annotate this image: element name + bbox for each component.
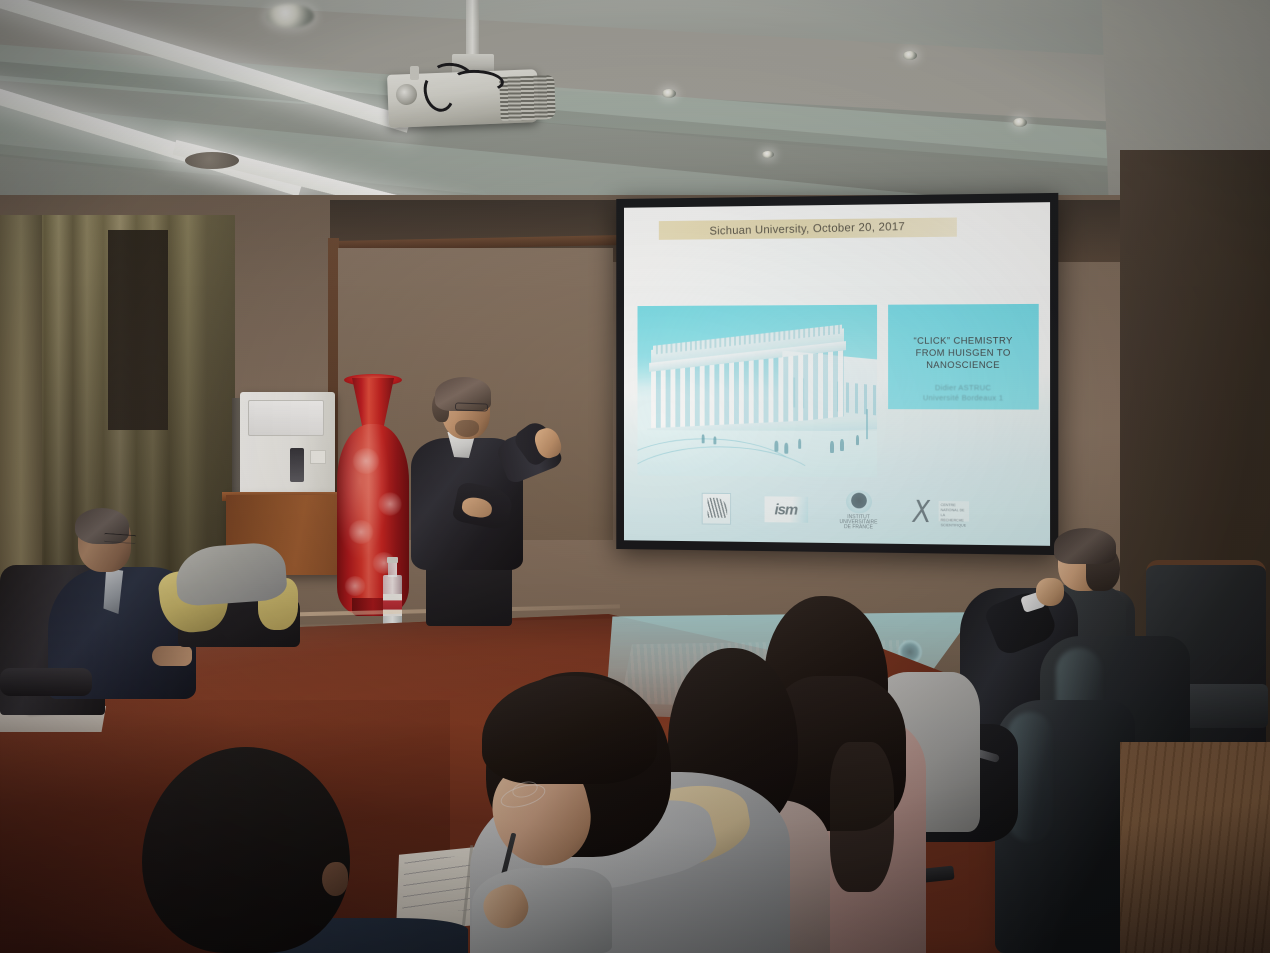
logo-iuf-icon: INSTITUT UNIVERSITAIRE DE FRANCE: [841, 490, 875, 530]
curtain-left-edge: [0, 215, 42, 580]
ceiling-downlight-1: [266, 4, 314, 28]
ceiling: [0, 0, 1270, 215]
student-pink-jacket-hair-strand: [830, 742, 894, 892]
air-conditioner-label: [310, 450, 326, 464]
projector-knob: [410, 66, 419, 80]
pedestrian: [856, 435, 859, 445]
ceiling-downlight-4: [903, 51, 917, 60]
air-conditioner-display: [290, 448, 304, 482]
pedestrian: [784, 443, 788, 454]
presentation-slide: Sichuan University, October 20, 2017: [624, 202, 1050, 546]
vase-floral-pattern: [378, 492, 402, 516]
vase-floral-pattern: [348, 520, 374, 544]
logo-universite-bordeaux-icon: [701, 493, 730, 525]
speaker-beard: [455, 420, 479, 437]
logo-ism-icon: ism: [764, 496, 808, 522]
lecture-room-photo: Sichuan University, October 20, 2017: [0, 0, 1270, 953]
logo-iuf-ring: [845, 490, 871, 513]
foreground-person-ear: [322, 862, 348, 896]
street-lamp: [866, 409, 868, 439]
attendee-left-hands: [152, 646, 192, 666]
slide-banner-text: Sichuan University, October 20, 2017: [709, 220, 905, 237]
ceiling-downlight-2: [185, 152, 239, 169]
logo-cnrs-mark: [908, 500, 937, 522]
projection-screen: Sichuan University, October 20, 2017: [616, 193, 1058, 555]
slide-affiliation: Université Bordeaux 1: [923, 393, 1003, 403]
floor-grain: [1120, 742, 1270, 953]
pedestrian: [840, 439, 844, 451]
air-conditioner-grille: [248, 400, 324, 436]
ceiling-downlight-5: [1013, 118, 1027, 127]
chair-armrest: [0, 668, 92, 696]
pedestrian: [830, 441, 834, 453]
logo-iuf-caption: INSTITUT UNIVERSITAIRE DE FRANCE: [840, 515, 878, 530]
attendee-right-hair: [1054, 528, 1116, 564]
slide-heading-line-1: “CLICK” CHEMISTRY: [914, 334, 1013, 346]
slide-photo-bordeaux-theatre: [638, 305, 878, 478]
pedestrian: [798, 439, 801, 449]
bottle-cap: [387, 557, 398, 563]
speaker-glasses-icon: [455, 402, 488, 411]
slide-heading-line-3: NANOSCIENCE: [914, 359, 1013, 371]
projector-vent-icon: [499, 75, 556, 121]
logo-ism-text: ism: [774, 501, 797, 518]
vase-floral-pattern: [352, 448, 380, 474]
slide-heading-line-2: FROM HUISGEN TO: [914, 347, 1013, 359]
slide-title-panel: “CLICK” CHEMISTRY FROM HUISGEN TO NANOSC…: [888, 304, 1039, 410]
slide-author-block: Didier ASTRUC Université Bordeaux 1: [923, 383, 1003, 402]
pedestrian: [702, 434, 705, 443]
slide-banner: Sichuan University, October 20, 2017: [659, 218, 957, 240]
slide-heading: “CLICK” CHEMISTRY FROM HUISGEN TO NANOSC…: [914, 334, 1013, 371]
projector-ceiling-mount: [466, 0, 479, 60]
ceiling-downlight-3: [662, 89, 676, 98]
pedestrian: [713, 436, 716, 444]
attendee-right-hand-on-chin: [1036, 578, 1064, 606]
slide-author: Didier ASTRUC: [923, 383, 1003, 393]
screen-surface: Sichuan University, October 20, 2017: [624, 202, 1050, 546]
logo-cnrs-icon: CENTRE NATIONAL DE LA RECHERCHE SCIENTIF…: [910, 497, 969, 526]
pedestrian: [774, 441, 778, 452]
ceiling-downlight-6: [762, 151, 774, 158]
slide-logo-row: ism INSTITUT UNIVERSITAIRE DE FRANCE CEN…: [624, 475, 1050, 546]
logo-cnrs-caption: CENTRE NATIONAL DE LA RECHERCHE SCIENTIF…: [939, 501, 969, 522]
vase-floral-pattern: [344, 576, 366, 596]
